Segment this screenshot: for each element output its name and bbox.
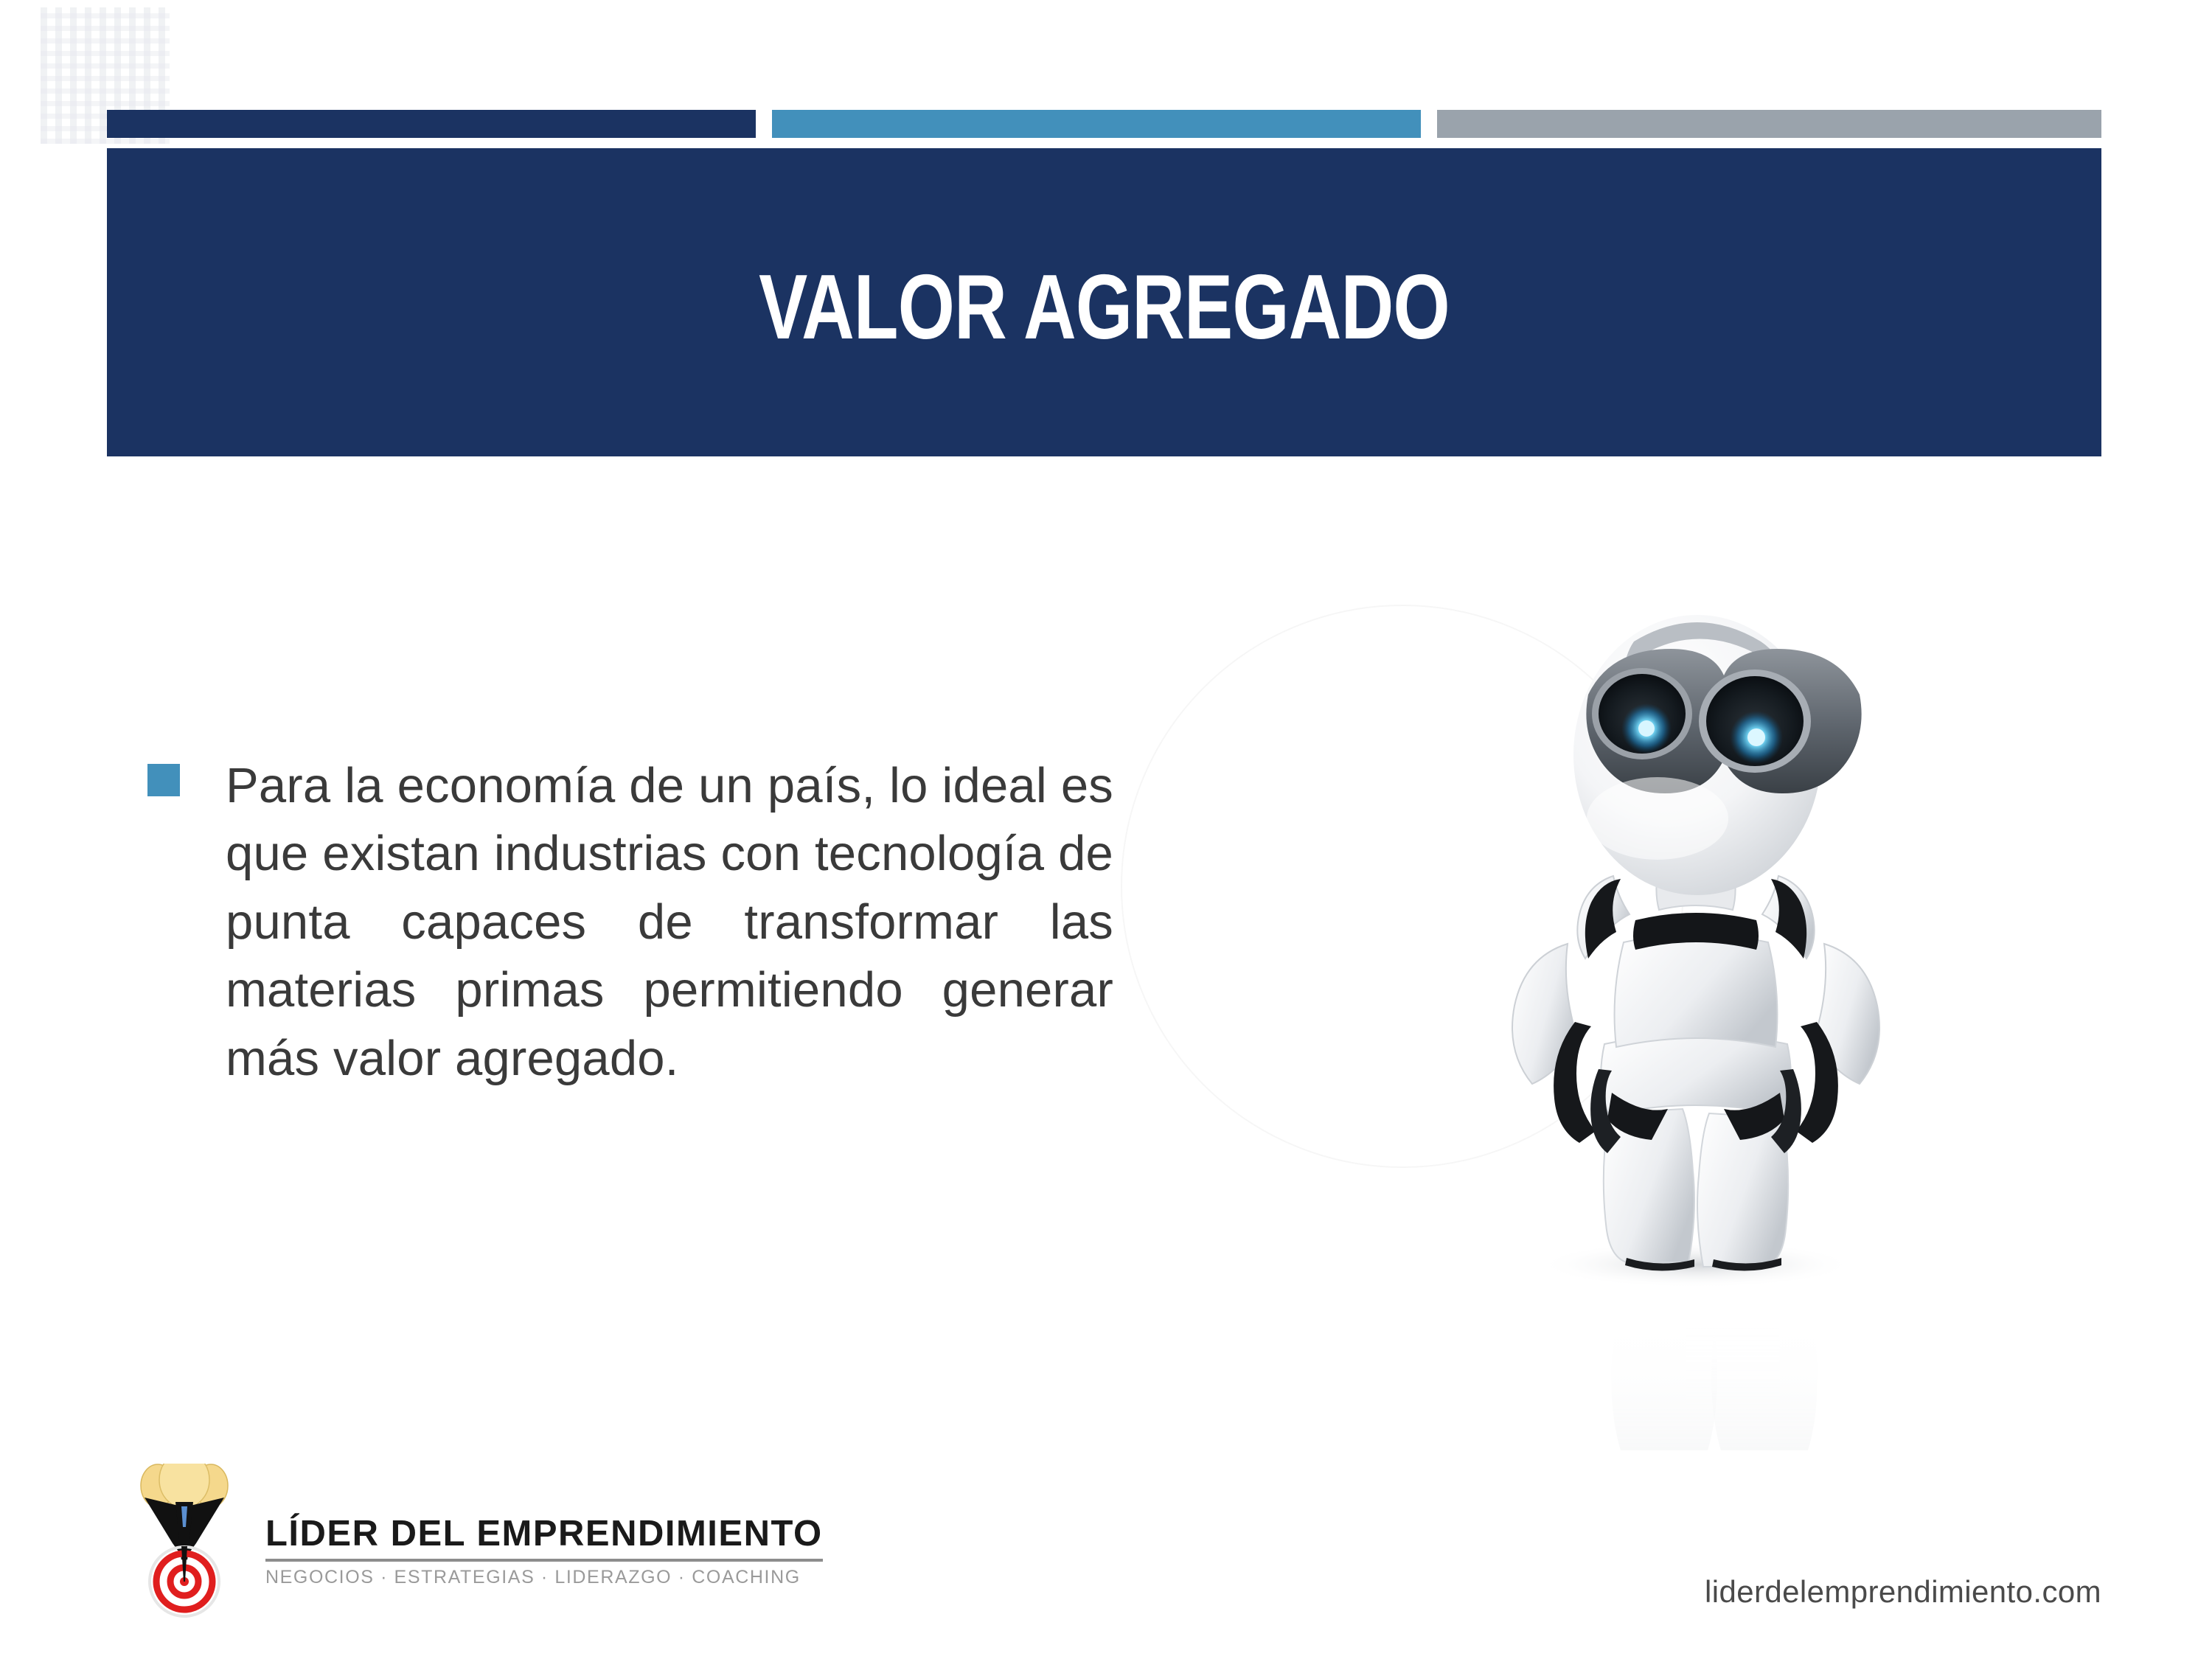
logo-divider — [265, 1559, 823, 1562]
brand-logo: LÍDER DEL EMPRENDIMIENTO NEGOCIOS · ESTR… — [111, 1464, 656, 1622]
slide-canvas: VALOR AGREGADO Para la economía de un pa… — [0, 0, 2212, 1659]
bullet-paragraph: Para la economía de un país, lo ideal es… — [226, 752, 1113, 1093]
bullet-list: Para la economía de un país, lo ideal es… — [147, 752, 1113, 1093]
title-band: VALOR AGREGADO — [107, 148, 2101, 456]
accent-bar-navy — [107, 110, 756, 138]
bullet-square-icon — [147, 764, 180, 796]
page-title: VALOR AGREGADO — [759, 251, 1450, 353]
accent-bar-blue — [772, 110, 1421, 138]
logo-wordmark: LÍDER DEL EMPRENDIMIENTO NEGOCIOS · ESTR… — [265, 1499, 823, 1587]
robot-illustration — [1423, 597, 1969, 1467]
parachutist-over-target-icon — [111, 1464, 258, 1622]
accent-bar-gray — [1437, 110, 2101, 138]
logo-name: LÍDER DEL EMPRENDIMIENTO — [265, 1515, 823, 1553]
footer-website-url: liderdelemprendimiento.com — [1705, 1574, 2101, 1610]
logo-tagline: NEGOCIOS · ESTRATEGIAS · LIDERAZGO · COA… — [265, 1568, 823, 1587]
accent-bar-group — [107, 110, 2101, 138]
